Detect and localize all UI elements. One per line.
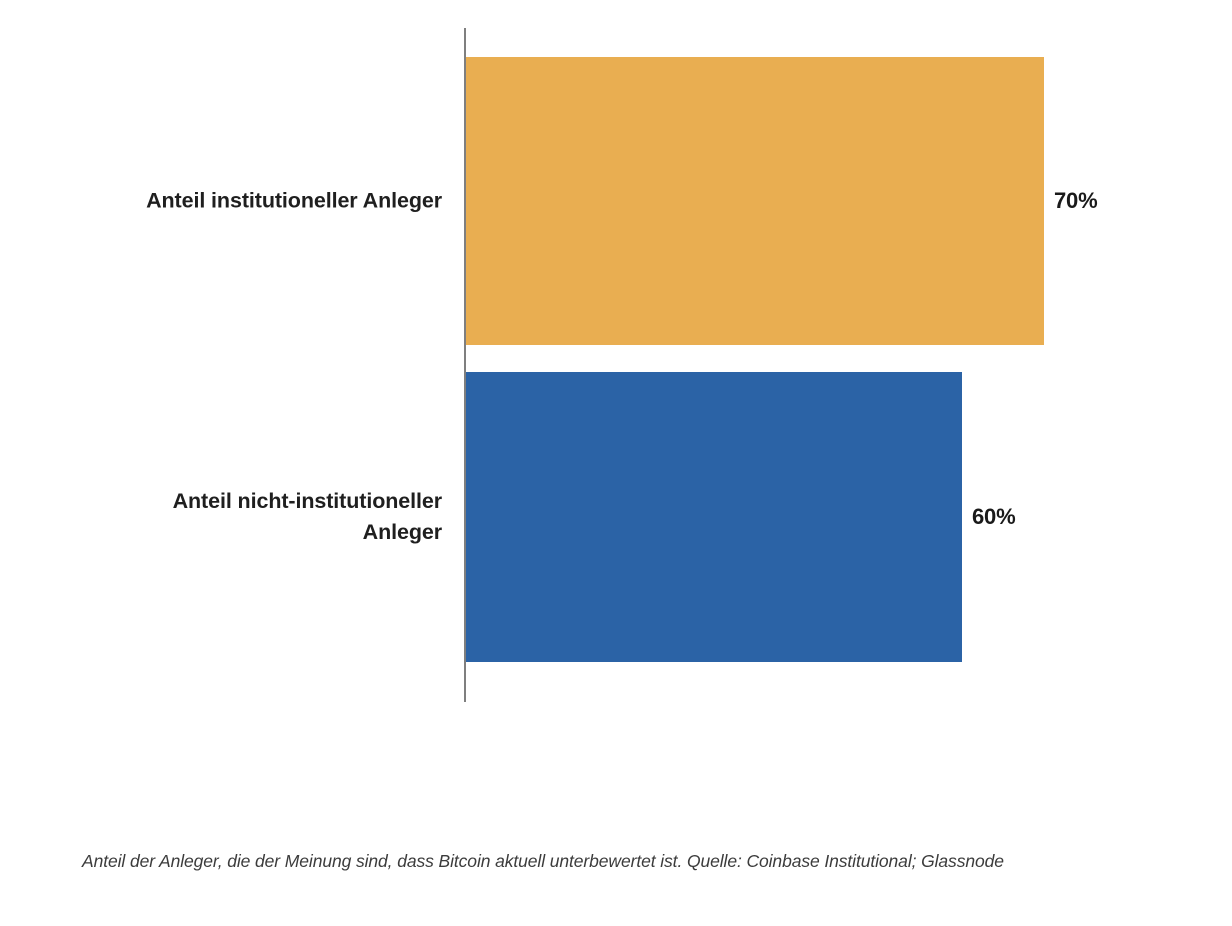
category-label-institutional: Anteil institutioneller Anleger	[22, 185, 442, 216]
bar-chart-figure: Anteil institutioneller Anleger 70% Ante…	[0, 0, 1232, 926]
bar-row: Anteil nicht-institutioneller Anleger 60…	[0, 372, 1232, 662]
bar-institutional[interactable]	[466, 57, 1044, 345]
category-label-non-institutional: Anteil nicht-institutioneller Anleger	[22, 486, 442, 548]
plot-area: Anteil institutioneller Anleger 70% Ante…	[0, 0, 1232, 760]
value-label-non-institutional: 60%	[972, 504, 1015, 530]
chart-caption: Anteil der Anleger, die der Meinung sind…	[82, 851, 1172, 872]
value-label-institutional: 70%	[1054, 188, 1097, 214]
bar-row: Anteil institutioneller Anleger 70%	[0, 57, 1232, 345]
bar-non-institutional[interactable]	[466, 372, 962, 662]
